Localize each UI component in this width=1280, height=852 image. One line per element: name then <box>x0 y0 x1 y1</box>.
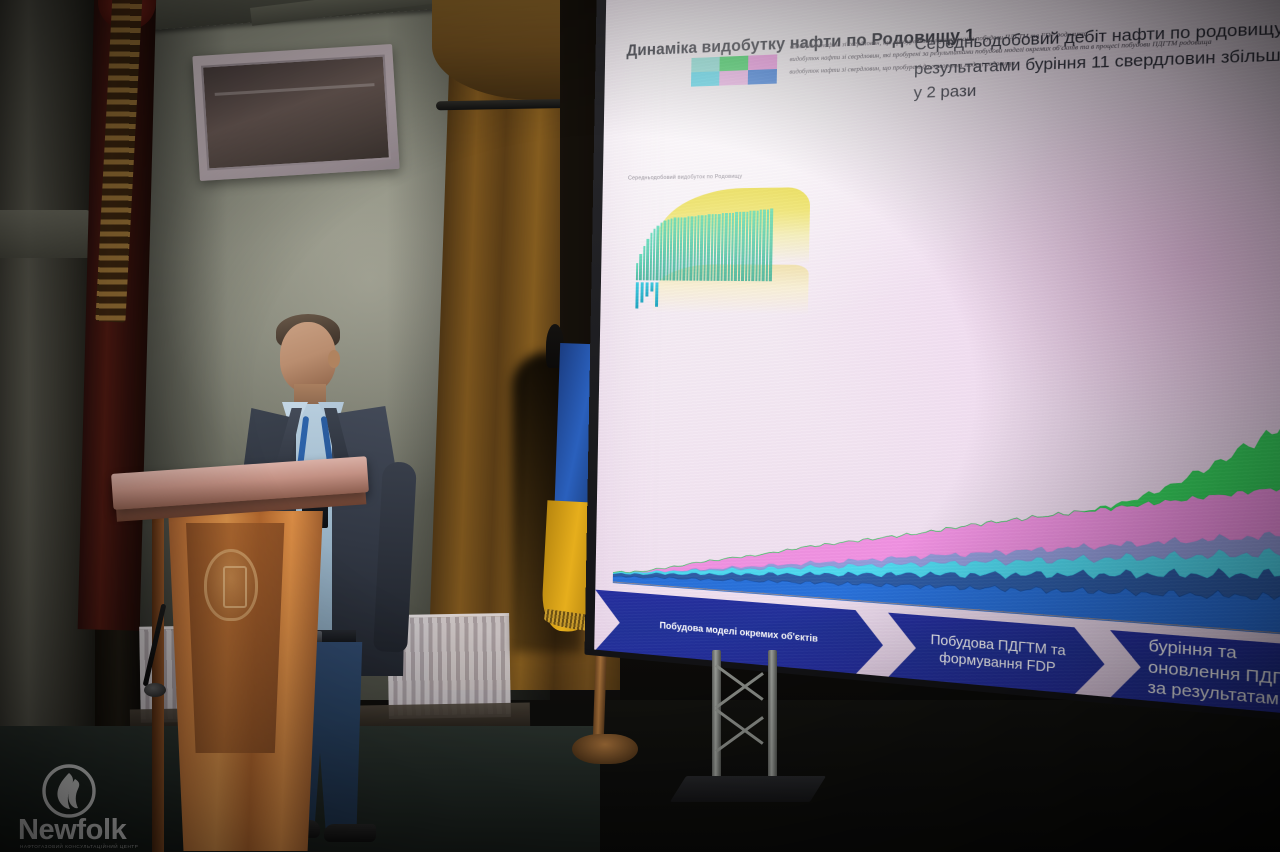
inset-bar-secondary <box>645 282 648 296</box>
truss-brace-4 <box>715 716 763 752</box>
watermark: Newfolk НАФТОГАЗОВИЙ КОНСУЛЬТАЦІЙНИЙ ЦЕН… <box>18 764 248 844</box>
podium-emblem <box>204 549 258 621</box>
speaker-ear <box>328 350 340 368</box>
microphone-head <box>144 683 166 697</box>
truss-brace-1 <box>715 664 763 700</box>
truss-base-plate <box>670 776 826 802</box>
wall-pillar <box>0 0 95 760</box>
legend-swatches <box>691 54 777 86</box>
inset-bar-series <box>636 204 812 282</box>
legend-swatch-3 <box>691 71 719 86</box>
truss-brace-3 <box>715 708 763 744</box>
window-glass <box>201 54 391 170</box>
screen-support-truss <box>700 650 840 800</box>
projection-screen: Динаміка видобутку нафти по Родовищу 1 в… <box>594 0 1280 745</box>
inset-chart <box>629 183 814 319</box>
legend-swatch-0 <box>691 57 719 73</box>
pillar-capital <box>0 210 92 258</box>
inset-bar-secondary <box>650 282 653 291</box>
window-mullion <box>215 83 375 96</box>
legend-swatch-4 <box>719 70 748 86</box>
inset-bar-secondary <box>635 282 638 308</box>
screen-surface: Динаміка видобутку нафти по Родовищу 1 в… <box>594 0 1280 721</box>
legend-swatch-1 <box>719 56 748 72</box>
watermark-brand: Newfolk <box>18 814 126 847</box>
truss-brace-2 <box>715 672 763 708</box>
inset-bar-series-secondary <box>635 282 675 311</box>
inset-chart-label: Середньодобовий видобуток по Родовищу <box>628 174 742 182</box>
flag-stand-base <box>572 734 638 764</box>
legend-swatch-2 <box>748 54 777 70</box>
inset-bar <box>636 263 639 280</box>
watermark-tagline: НАФТОГАЗОВИЙ КОНСУЛЬТАЦІЙНИЙ ЦЕНТР <box>20 844 138 849</box>
wall-window <box>192 44 399 181</box>
inset-bar-secondary <box>640 282 643 302</box>
truss-leg-right <box>768 650 777 780</box>
legend-swatch-5 <box>748 69 777 85</box>
inset-bar <box>769 208 773 281</box>
inset-bar-secondary <box>655 282 658 306</box>
photo-scene: Динаміка видобутку нафти по Родовищу 1 в… <box>0 0 1280 852</box>
